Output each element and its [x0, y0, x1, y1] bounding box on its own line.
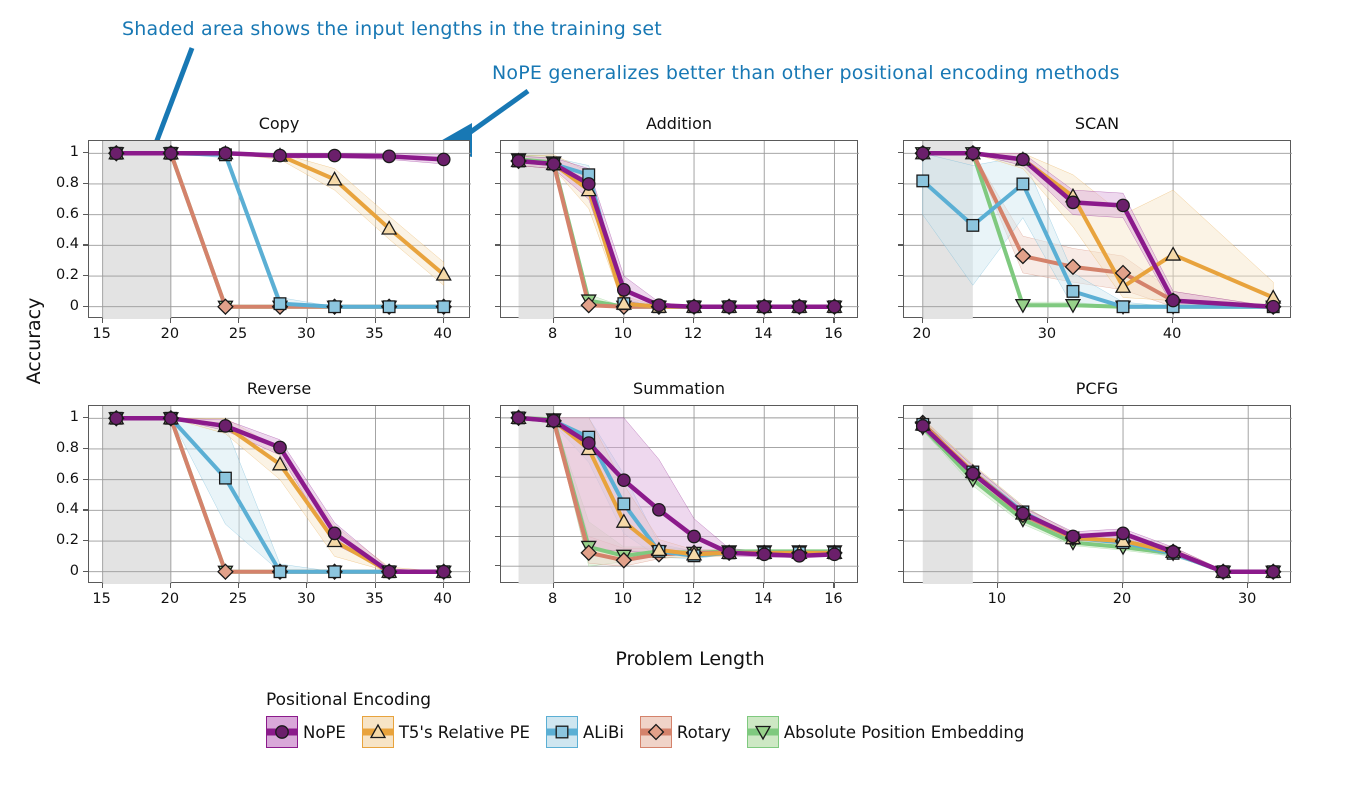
x-tick-mark	[623, 583, 624, 588]
x-tick-mark	[170, 318, 171, 323]
panel-title: SCAN	[903, 114, 1291, 133]
y-tick-mark	[495, 306, 500, 307]
x-tick-mark	[997, 583, 998, 588]
y-tick-mark	[898, 448, 903, 449]
x-tick-mark	[553, 318, 554, 323]
legend-swatch-square-icon	[546, 716, 578, 748]
y-tick-mark	[898, 152, 903, 153]
y-tick-mark	[83, 571, 88, 572]
x-tick-mark	[1122, 583, 1123, 588]
x-tick-label: 20	[161, 591, 179, 607]
y-tick-label: 0	[70, 563, 79, 579]
x-tick-mark	[623, 318, 624, 323]
y-tick-mark	[495, 183, 500, 184]
figure-root: Shaded area shows the input lengths in t…	[0, 0, 1364, 800]
legend-entry-nope[interactable]: NoPE	[266, 716, 346, 748]
x-tick-label: 25	[229, 326, 247, 342]
legend-entry-absolute-position-embedding[interactable]: Absolute Position Embedding	[747, 716, 1024, 748]
legend-label: Absolute Position Embedding	[784, 723, 1024, 742]
panel-title: Copy	[88, 114, 470, 133]
x-tick-label: 30	[297, 326, 315, 342]
y-tick-mark	[495, 275, 500, 276]
x-tick-label: 16	[824, 326, 842, 342]
y-tick-mark	[83, 275, 88, 276]
y-tick-label: 1	[70, 409, 79, 425]
x-tick-label: 40	[1163, 326, 1181, 342]
plot-canvas	[904, 406, 1292, 584]
y-tick-mark	[898, 275, 903, 276]
y-tick-mark	[83, 509, 88, 510]
x-tick-label: 40	[433, 591, 451, 607]
x-tick-mark	[1172, 318, 1173, 323]
plot-area	[903, 140, 1291, 318]
y-tick-mark	[495, 565, 500, 566]
x-tick-mark	[238, 318, 239, 323]
x-tick-mark	[306, 318, 307, 323]
legend-title: Positional Encoding	[266, 690, 1040, 710]
x-tick-label: 20	[913, 326, 931, 342]
x-tick-mark	[833, 583, 834, 588]
y-tick-mark	[495, 214, 500, 215]
legend-swatch-triangle-up-icon	[362, 716, 394, 748]
x-tick-label: 25	[229, 591, 247, 607]
x-tick-label: 14	[754, 326, 772, 342]
legend: Positional Encoding NoPET5's Relative PE…	[266, 690, 1040, 748]
y-tick-mark	[83, 183, 88, 184]
x-tick-label: 40	[433, 326, 451, 342]
y-tick-mark	[495, 476, 500, 477]
legend-label: ALiBi	[583, 723, 624, 742]
legend-swatch-diamond-icon	[640, 716, 672, 748]
y-tick-label: 1	[70, 144, 79, 160]
x-tick-label: 30	[1038, 326, 1056, 342]
y-tick-mark	[898, 306, 903, 307]
chart-panel-pcfg: PCFG102030	[903, 405, 1291, 583]
chart-panel-summation: Summation810121416	[500, 405, 858, 583]
y-tick-mark	[495, 152, 500, 153]
y-tick-mark	[495, 417, 500, 418]
plot-canvas	[89, 406, 471, 584]
y-tick-mark	[83, 448, 88, 449]
x-tick-mark	[102, 318, 103, 323]
x-tick-label: 12	[684, 591, 702, 607]
y-tick-label: 0.4	[56, 236, 79, 252]
plot-canvas	[89, 141, 471, 319]
plot-canvas	[501, 141, 859, 319]
x-tick-mark	[375, 583, 376, 588]
x-tick-mark	[306, 583, 307, 588]
annotation-nope-generalizes: NoPE generalizes better than other posit…	[492, 62, 1120, 84]
y-tick-mark	[898, 540, 903, 541]
y-axis-title: Accuracy	[23, 281, 45, 401]
y-tick-mark	[83, 540, 88, 541]
y-tick-mark	[898, 509, 903, 510]
plot-area	[88, 140, 470, 318]
y-tick-mark	[495, 244, 500, 245]
y-tick-mark	[898, 214, 903, 215]
x-tick-label: 16	[824, 591, 842, 607]
y-tick-mark	[898, 183, 903, 184]
y-tick-mark	[495, 536, 500, 537]
y-tick-label: 0.6	[56, 471, 79, 487]
panel-title: Addition	[500, 114, 858, 133]
plot-canvas	[501, 406, 859, 584]
x-tick-mark	[763, 318, 764, 323]
y-tick-mark	[495, 447, 500, 448]
x-tick-label: 30	[1238, 591, 1256, 607]
y-tick-mark	[83, 417, 88, 418]
y-tick-mark	[898, 479, 903, 480]
y-tick-label: 0.6	[56, 206, 79, 222]
y-tick-mark	[83, 306, 88, 307]
x-tick-label: 35	[365, 326, 383, 342]
x-tick-label: 12	[684, 326, 702, 342]
x-tick-mark	[922, 318, 923, 323]
annotation-shaded-area: Shaded area shows the input lengths in t…	[122, 18, 662, 40]
x-tick-mark	[1247, 583, 1248, 588]
x-tick-mark	[833, 318, 834, 323]
legend-entries: NoPET5's Relative PEALiBiRotaryAbsolute …	[266, 716, 1040, 748]
y-tick-mark	[83, 244, 88, 245]
x-tick-label: 15	[92, 326, 110, 342]
y-tick-label: 0.8	[56, 175, 79, 191]
x-tick-mark	[693, 583, 694, 588]
legend-entry-alibi[interactable]: ALiBi	[546, 716, 624, 748]
x-tick-mark	[693, 318, 694, 323]
y-tick-mark	[83, 479, 88, 480]
x-tick-mark	[553, 583, 554, 588]
x-tick-label: 8	[548, 591, 557, 607]
x-tick-label: 10	[614, 591, 632, 607]
y-tick-label: 0.2	[56, 267, 79, 283]
x-tick-label: 35	[365, 591, 383, 607]
y-tick-label: 0.4	[56, 501, 79, 517]
x-tick-label: 20	[1113, 591, 1131, 607]
panel-title: PCFG	[903, 379, 1291, 398]
y-tick-mark	[495, 506, 500, 507]
legend-label: T5's Relative PE	[399, 723, 530, 742]
legend-entry-t5-s-relative-pe[interactable]: T5's Relative PE	[362, 716, 530, 748]
plot-area	[500, 405, 858, 583]
x-tick-label: 14	[754, 591, 772, 607]
y-tick-mark	[898, 417, 903, 418]
plot-canvas	[904, 141, 1292, 319]
x-tick-mark	[238, 583, 239, 588]
x-tick-mark	[375, 318, 376, 323]
legend-label: NoPE	[303, 723, 346, 742]
x-tick-label: 30	[297, 591, 315, 607]
plot-area	[903, 405, 1291, 583]
legend-swatch-triangle-down-icon	[747, 716, 779, 748]
x-tick-label: 10	[988, 591, 1006, 607]
x-tick-label: 8	[548, 326, 557, 342]
y-tick-mark	[898, 571, 903, 572]
plot-area	[500, 140, 858, 318]
plot-area	[88, 405, 470, 583]
x-tick-label: 15	[92, 591, 110, 607]
x-tick-label: 20	[161, 326, 179, 342]
x-tick-mark	[763, 583, 764, 588]
chart-panel-reverse: Reverse00.20.40.60.81152025303540	[88, 405, 470, 583]
chart-panel-addition: Addition810121416	[500, 140, 858, 318]
x-tick-mark	[102, 583, 103, 588]
legend-swatch-circle-icon	[266, 716, 298, 748]
x-axis-title: Problem Length	[490, 648, 890, 670]
panel-title: Reverse	[88, 379, 470, 398]
x-tick-label: 10	[614, 326, 632, 342]
y-tick-mark	[83, 152, 88, 153]
y-tick-label: 0	[70, 298, 79, 314]
chart-panel-scan: SCAN203040	[903, 140, 1291, 318]
x-tick-mark	[170, 583, 171, 588]
x-tick-mark	[443, 318, 444, 323]
x-tick-mark	[443, 583, 444, 588]
chart-panel-copy: Copy00.20.40.60.81152025303540	[88, 140, 470, 318]
x-tick-mark	[1047, 318, 1048, 323]
y-tick-mark	[898, 244, 903, 245]
legend-label: Rotary	[677, 723, 731, 742]
legend-entry-rotary[interactable]: Rotary	[640, 716, 731, 748]
y-tick-label: 0.8	[56, 440, 79, 456]
panel-title: Summation	[500, 379, 858, 398]
y-tick-mark	[83, 214, 88, 215]
y-tick-label: 0.2	[56, 532, 79, 548]
